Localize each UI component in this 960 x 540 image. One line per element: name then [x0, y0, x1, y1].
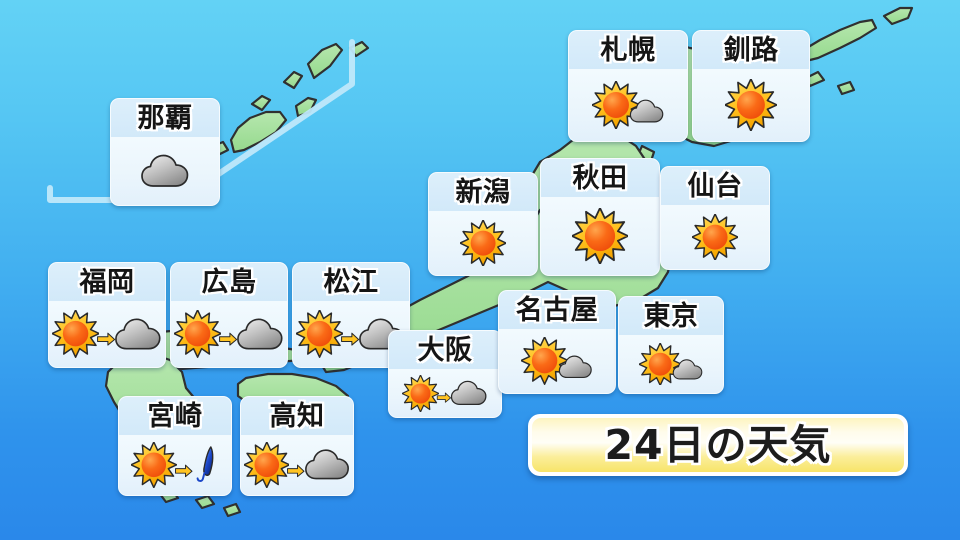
city-name-nagoya: 名古屋 [516, 297, 599, 324]
panel-body-tokyo [619, 335, 723, 393]
forecast-panel-nagoya[interactable]: 名古屋 [498, 290, 616, 394]
panel-body-akita [541, 197, 659, 275]
city-name-hiroshima: 広島 [202, 269, 257, 296]
forecast-panel-miyazaki[interactable]: 宮崎 [118, 396, 232, 496]
panel-body-naha [111, 137, 219, 205]
panel-header-kushiro: 釧路 [693, 31, 809, 69]
sun-icon [572, 208, 628, 264]
sun-icon [296, 310, 343, 357]
title-banner: 24日の天気 [528, 414, 908, 476]
weather-icons-sendai [692, 214, 738, 260]
panel-body-miyazaki [119, 435, 231, 495]
cloud-icon [140, 151, 190, 191]
panel-header-nagoya: 名古屋 [499, 291, 615, 329]
weather-icons-osaka [402, 375, 487, 412]
cloud-icon [629, 97, 665, 125]
forecast-panel-osaka[interactable]: 大阪 [388, 330, 502, 418]
city-name-tokyo: 東京 [644, 303, 699, 330]
panel-header-miyazaki: 宮崎 [119, 397, 231, 435]
forecast-panel-sapporo[interactable]: 札幌 [568, 30, 688, 142]
arrow-icon [174, 464, 193, 478]
weather-icons-akita [572, 208, 628, 264]
panel-header-fukuoka: 福岡 [49, 263, 165, 301]
cloud-icon [304, 446, 351, 483]
city-name-kochi: 高知 [270, 403, 325, 430]
panel-body-sapporo [569, 69, 687, 141]
umbrella-icon [193, 444, 219, 486]
panel-body-nagoya [499, 329, 615, 393]
weather-icons-naha [140, 151, 190, 191]
arrow-icon [436, 392, 452, 403]
city-name-niigata: 新潟 [456, 179, 511, 206]
panel-header-tokyo: 東京 [619, 297, 723, 335]
city-name-naha: 那覇 [138, 105, 193, 132]
sun-icon [460, 220, 506, 266]
sun-icon [131, 442, 177, 488]
weather-icons-niigata [460, 220, 506, 266]
sun-icon [725, 79, 777, 131]
cloud-icon [236, 315, 284, 354]
cloud-icon [558, 353, 593, 381]
forecast-panel-akita[interactable]: 秋田 [540, 158, 660, 276]
weather-icons-miyazaki [131, 442, 219, 488]
panel-header-osaka: 大阪 [389, 331, 501, 369]
arrow-icon [340, 332, 360, 346]
city-name-akita: 秋田 [573, 165, 628, 192]
forecast-panel-fukuoka[interactable]: 福岡 [48, 262, 166, 368]
forecast-panel-tokyo[interactable]: 東京 [618, 296, 724, 394]
city-name-miyazaki: 宮崎 [148, 403, 203, 430]
arrow-icon [286, 464, 305, 478]
weather-icons-kushiro [725, 79, 777, 131]
panel-body-kushiro [693, 69, 809, 141]
sun-icon [402, 375, 439, 412]
weather-icons-nagoya [521, 337, 593, 384]
forecast-panel-kushiro[interactable]: 釧路 [692, 30, 810, 142]
title-banner-inner: 24日の天気 [532, 418, 904, 472]
page-title: 24日の天気 [604, 425, 831, 466]
panel-header-sendai: 仙台 [661, 167, 769, 205]
forecast-panel-hiroshima[interactable]: 広島 [170, 262, 288, 368]
panel-header-kochi: 高知 [241, 397, 353, 435]
panel-body-fukuoka [49, 301, 165, 367]
weather-map-screen: 那覇札幌釧路新潟秋田仙台福岡広島松江大阪名古屋東京宮崎高知 24日の天気 [0, 0, 960, 540]
city-name-sapporo: 札幌 [601, 37, 656, 64]
forecast-panel-naha[interactable]: 那覇 [110, 98, 220, 206]
panel-header-matsue: 松江 [293, 263, 409, 301]
panel-header-hiroshima: 広島 [171, 263, 287, 301]
panel-header-sapporo: 札幌 [569, 31, 687, 69]
cloud-icon [672, 357, 703, 382]
weather-icons-fukuoka [52, 310, 162, 357]
arrow-icon [96, 332, 116, 346]
city-name-sendai: 仙台 [688, 173, 743, 200]
forecast-panel-sendai[interactable]: 仙台 [660, 166, 770, 270]
sun-icon [52, 310, 99, 357]
weather-icons-sapporo [592, 81, 665, 129]
arrow-icon [218, 332, 238, 346]
panel-header-naha: 那覇 [111, 99, 219, 137]
weather-icons-kochi [244, 442, 350, 488]
panel-body-niigata [429, 211, 537, 275]
panel-header-akita: 秋田 [541, 159, 659, 197]
panel-body-hiroshima [171, 301, 287, 367]
sun-icon [692, 214, 738, 260]
panel-body-kochi [241, 435, 353, 495]
cloud-icon [450, 378, 488, 408]
forecast-panel-niigata[interactable]: 新潟 [428, 172, 538, 276]
city-name-kushiro: 釧路 [724, 37, 779, 64]
city-name-fukuoka: 福岡 [80, 269, 135, 296]
city-name-osaka: 大阪 [418, 337, 473, 364]
sun-icon [244, 442, 290, 488]
weather-icons-hiroshima [174, 310, 284, 357]
cloud-icon [114, 315, 162, 354]
panel-header-niigata: 新潟 [429, 173, 537, 211]
panel-body-osaka [389, 369, 501, 417]
weather-icons-tokyo [639, 343, 703, 385]
forecast-panel-kochi[interactable]: 高知 [240, 396, 354, 496]
sun-icon [174, 310, 221, 357]
panel-body-sendai [661, 205, 769, 269]
city-name-matsue: 松江 [324, 269, 379, 296]
